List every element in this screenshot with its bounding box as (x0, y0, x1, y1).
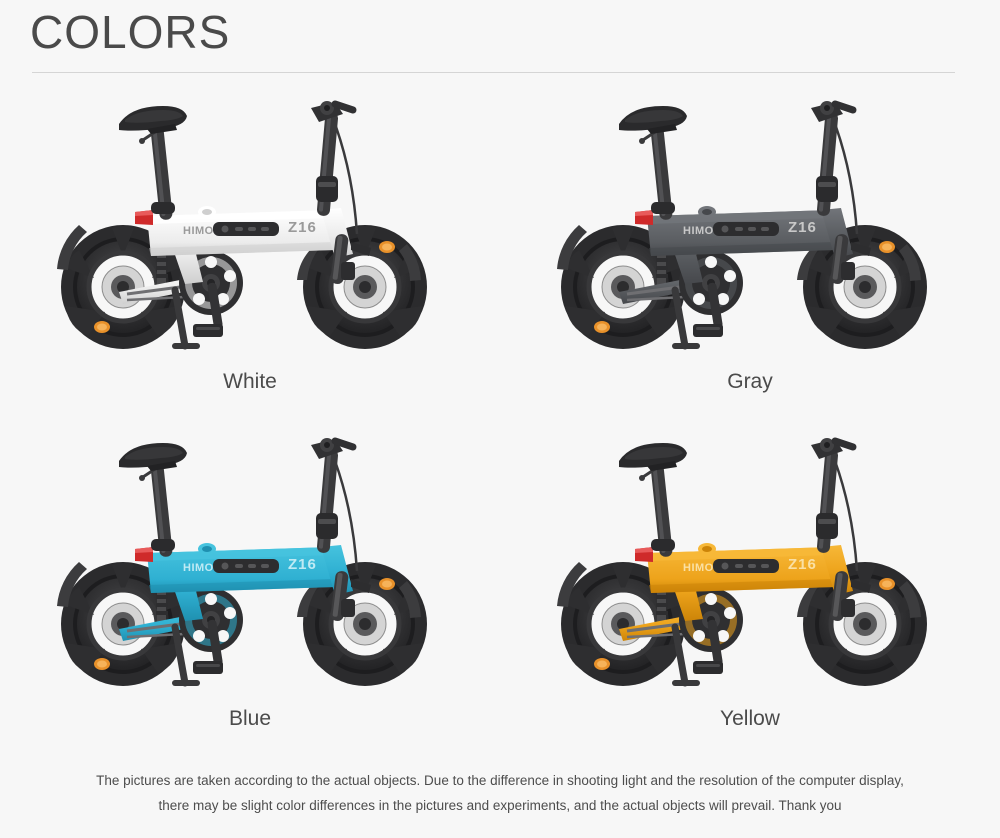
bike-illustration: HIMO Z16 (35, 84, 465, 374)
color-variant-grid: HIMO Z16 (0, 84, 1000, 758)
color-variant-white[interactable]: HIMO Z16 (0, 84, 500, 421)
color-variant-label: Gray (727, 370, 773, 394)
frame-model-decal: Z16 (788, 219, 817, 236)
bike-illustration: HIMO Z16 (35, 421, 465, 711)
main-frame: HIMO Z16 (647, 543, 835, 593)
colors-section: COLORS (0, 0, 1000, 838)
page-title: COLORS (30, 2, 230, 62)
color-variant-label: Yellow (720, 707, 780, 731)
disclaimer-note: The pictures are taken according to the … (0, 768, 1000, 818)
seat-assembly (119, 106, 187, 220)
color-variant-gray[interactable]: HIMO Z16 (500, 84, 1000, 421)
pedal (193, 661, 223, 674)
color-variant-label: Blue (229, 707, 271, 731)
frame-model-decal: Z16 (288, 556, 317, 573)
main-frame: HIMO Z16 (647, 206, 835, 256)
color-variant-blue[interactable]: HIMO Z16 (0, 421, 500, 758)
bike-illustration: HIMO Z16 (535, 421, 965, 711)
bike-illustration: HIMO Z16 (535, 84, 965, 374)
frame-brand-decal: HIMO (683, 562, 714, 574)
main-frame: HIMO Z16 (147, 543, 335, 593)
pedal (693, 324, 723, 337)
frame-brand-decal: HIMO (183, 225, 214, 237)
frame-brand-decal: HIMO (683, 225, 714, 237)
frame-model-decal: Z16 (788, 556, 817, 573)
seat-assembly (619, 443, 687, 557)
seat-assembly (119, 443, 187, 557)
frame-brand-decal: HIMO (183, 562, 214, 574)
color-variant-label: White (223, 370, 277, 394)
pedal (693, 661, 723, 674)
color-variant-yellow[interactable]: HIMO Z16 (500, 421, 1000, 758)
frame-model-decal: Z16 (288, 219, 317, 236)
main-frame: HIMO Z16 (147, 206, 335, 256)
seat-assembly (619, 106, 687, 220)
disclaimer-line-1: The pictures are taken according to the … (18, 768, 982, 793)
pedal (193, 324, 223, 337)
title-divider (32, 72, 955, 73)
disclaimer-line-2: there may be slight color differences in… (18, 793, 982, 818)
